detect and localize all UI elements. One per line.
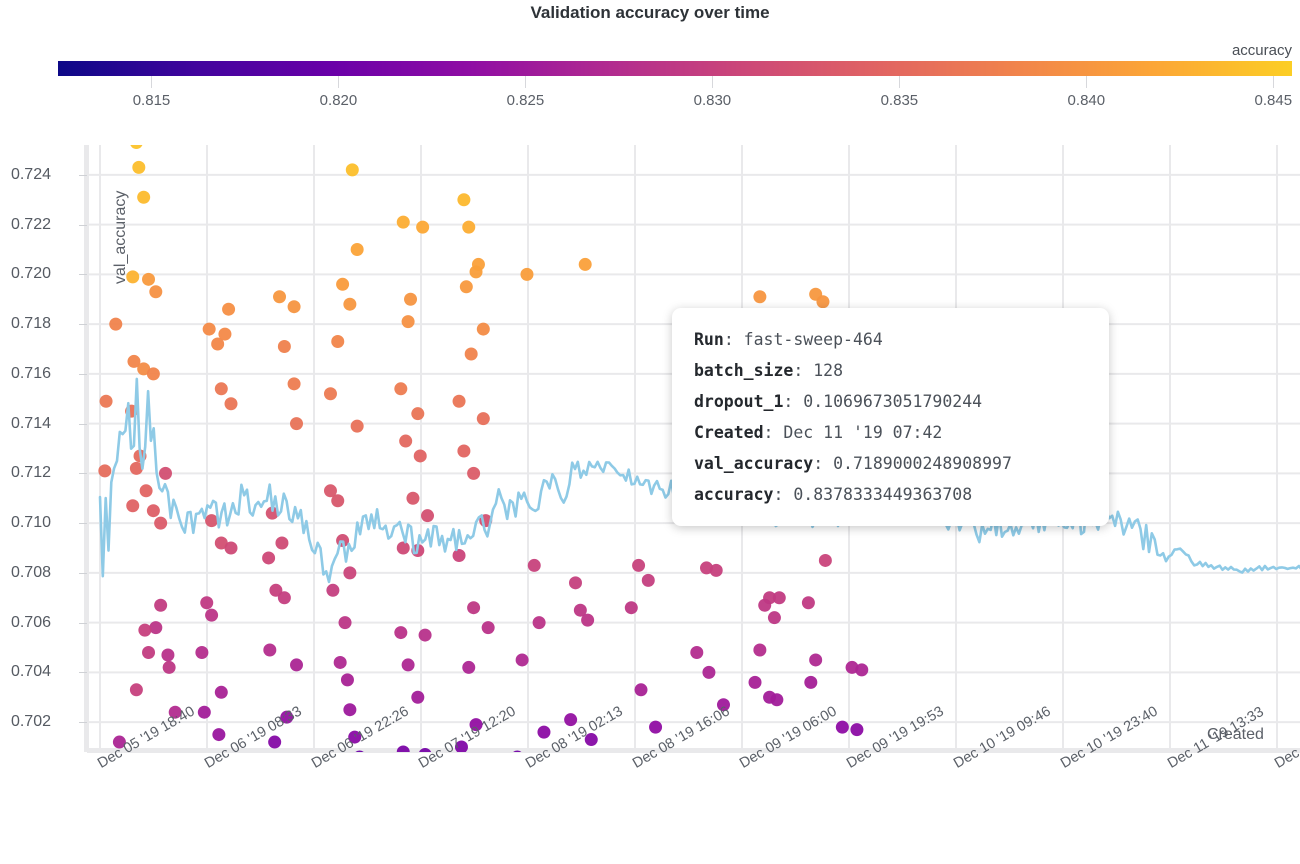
y-axis-tick (79, 175, 87, 176)
y-axis-tick-label: 0.714 (11, 415, 51, 433)
colorbar-tick (151, 76, 152, 88)
colorbar-gradient (58, 61, 1292, 76)
colorbar-tick-label: 0.825 (507, 92, 545, 109)
colorbar-title: accuracy (1232, 42, 1292, 59)
y-axis-tick-label: 0.708 (11, 564, 51, 582)
series-label-val-accuracy: val_accuracy (112, 191, 130, 284)
tooltip-key: batch_size (694, 361, 793, 380)
tooltip-value: : fast-sweep-464 (724, 330, 883, 349)
colorbar-tick-label: 0.820 (320, 92, 358, 109)
y-axis-tick (79, 473, 87, 474)
tooltip-row: accuracy: 0.8378333449363708 (694, 479, 1087, 510)
tooltip-key: val_accuracy (694, 454, 813, 473)
tooltip-key: dropout_1 (694, 392, 783, 411)
y-axis-tick (79, 573, 87, 574)
tooltip-value: : Dec 11 '19 07:42 (764, 423, 943, 442)
colorbar-tick-label: 0.835 (881, 92, 919, 109)
tooltip-value: : 128 (793, 361, 843, 380)
y-axis-tick-label: 0.702 (11, 713, 51, 731)
colorbar (58, 61, 1292, 76)
y-axis-tick-label: 0.716 (11, 365, 51, 383)
colorbar-tick-label: 0.845 (1255, 92, 1293, 109)
tooltip-value: : 0.7189000248908997 (813, 454, 1012, 473)
colorbar-tick (899, 76, 900, 88)
y-axis-tick (79, 424, 87, 425)
colorbar-tick-label: 0.840 (1068, 92, 1106, 109)
y-axis-tick (79, 274, 87, 275)
tooltip-value: : 0.1069673051790244 (783, 392, 982, 411)
colorbar-tick-label: 0.830 (694, 92, 732, 109)
tooltip-value: : 0.8378333449363708 (773, 485, 972, 504)
tooltip-key: Created (694, 423, 764, 442)
y-axis-tick (79, 523, 87, 524)
colorbar-tick-label: 0.815 (133, 92, 171, 109)
colorbar-tick (712, 76, 713, 88)
chart-root: Validation accuracy over time accuracy 0… (0, 0, 1300, 864)
y-axis-tick-label: 0.706 (11, 614, 51, 632)
y-axis-tick (79, 623, 87, 624)
tooltip-row: batch_size: 128 (694, 355, 1087, 386)
tooltip-row: dropout_1: 0.1069673051790244 (694, 386, 1087, 417)
colorbar-tick (1086, 76, 1087, 88)
tooltip-row: Created: Dec 11 '19 07:42 (694, 417, 1087, 448)
tooltip-key: accuracy (694, 485, 773, 504)
y-axis-tick (79, 672, 87, 673)
y-axis-tick-label: 0.724 (11, 166, 51, 184)
y-axis-tick-label: 0.712 (11, 464, 51, 482)
page-title: Validation accuracy over time (0, 0, 1300, 26)
colorbar-tick (1273, 76, 1274, 88)
colorbar-tick (338, 76, 339, 88)
y-axis-tick (79, 225, 87, 226)
tooltip-row: val_accuracy: 0.7189000248908997 (694, 448, 1087, 479)
y-axis-tick-label: 0.718 (11, 315, 51, 333)
y-axis-tick (79, 722, 87, 723)
tooltip-row: Run: fast-sweep-464 (694, 324, 1087, 355)
y-axis-tick-label: 0.720 (11, 265, 51, 283)
y-axis-tick (79, 374, 87, 375)
y-axis-tick (79, 324, 87, 325)
point-tooltip: Run: fast-sweep-464batch_size: 128dropou… (672, 308, 1109, 526)
y-axis-tick-label: 0.722 (11, 216, 51, 234)
y-axis-tick-label: 0.710 (11, 514, 51, 532)
colorbar-tick (525, 76, 526, 88)
tooltip-key: Run (694, 330, 724, 349)
y-axis-tick-label: 0.704 (11, 663, 51, 681)
